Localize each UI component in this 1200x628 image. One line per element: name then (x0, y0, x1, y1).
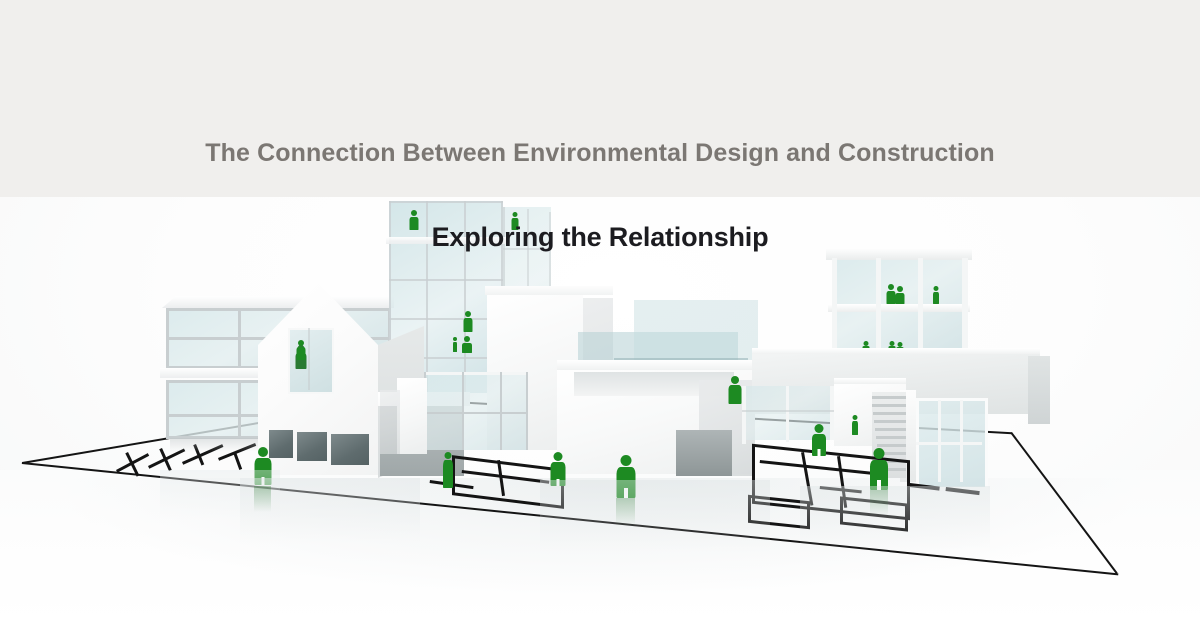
scale-figure (443, 452, 453, 488)
scale-figure (933, 286, 939, 304)
page-title: The Connection Between Environmental Des… (0, 139, 1200, 168)
scale-figure (870, 448, 888, 490)
scale-figure (463, 311, 472, 332)
scale-figure (453, 337, 457, 352)
scale-figure (812, 424, 826, 456)
scale-figure (886, 284, 895, 304)
promo-banner: The Connection Between Environmental Des… (0, 0, 1200, 628)
scale-figure (462, 336, 472, 353)
page-subtitle: Exploring the Relationship (0, 222, 1200, 253)
header-band: The Connection Between Environmental Des… (0, 0, 1200, 197)
teal-glass-plane (634, 300, 758, 362)
scale-figure (728, 376, 741, 404)
scale-figure (296, 340, 305, 360)
scale-figure (852, 415, 858, 435)
scale-figure (895, 286, 904, 304)
